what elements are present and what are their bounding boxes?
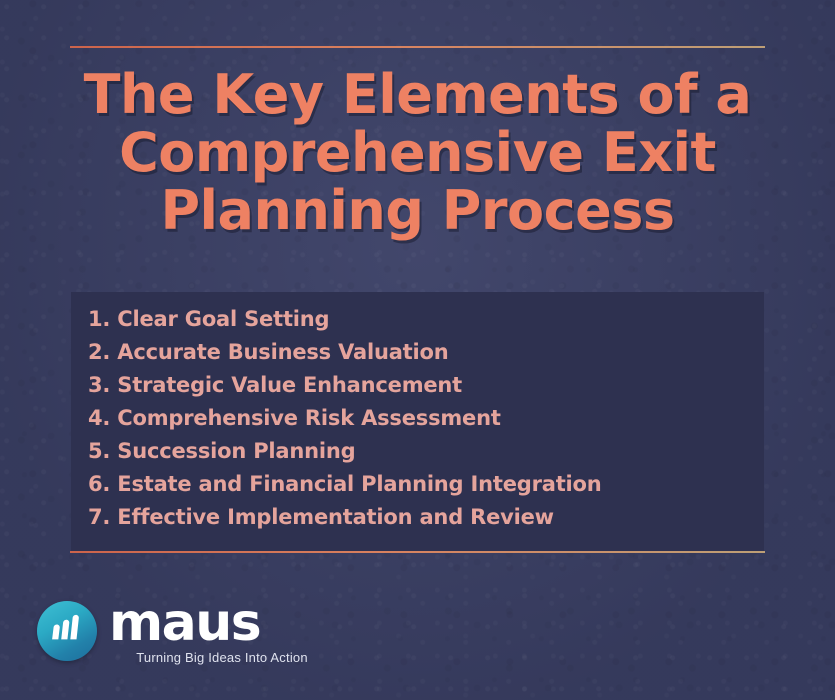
list-item: 3. Strategic Value Enhancement <box>88 369 602 402</box>
list-item: 4. Comprehensive Risk Assessment <box>88 402 602 435</box>
list-item: 1. Clear Goal Setting <box>88 303 602 336</box>
list-item: 2. Accurate Business Valuation <box>88 336 602 369</box>
maus-bars-icon <box>37 601 97 661</box>
list-item: 7. Effective Implementation and Review <box>88 501 602 534</box>
list-item: 6. Estate and Financial Planning Integra… <box>88 468 602 501</box>
maus-logo: maus Turning Big Ideas Into Action <box>37 596 337 668</box>
key-elements-list: 1. Clear Goal Setting 2. Accurate Busine… <box>88 303 602 534</box>
page-title: The Key Elements of a Comprehensive Exit… <box>70 66 765 240</box>
slide-canvas: The Key Elements of a Comprehensive Exit… <box>0 0 835 700</box>
maus-tagline: Turning Big Ideas Into Action <box>97 650 347 665</box>
title-line-3: Planning Process <box>70 182 765 240</box>
title-line-1: The Key Elements of a <box>70 66 765 124</box>
title-line-2: Comprehensive Exit <box>70 124 765 182</box>
top-divider-rule <box>70 46 765 48</box>
key-elements-panel: 1. Clear Goal Setting 2. Accurate Busine… <box>71 292 764 551</box>
list-item: 5. Succession Planning <box>88 435 602 468</box>
maus-wordmark: maus <box>109 596 260 650</box>
bottom-divider-rule <box>70 551 765 553</box>
